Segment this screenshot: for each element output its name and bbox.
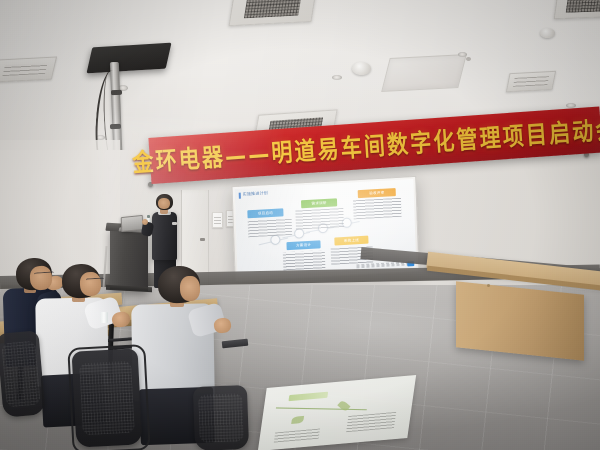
side-table-panel <box>456 281 584 360</box>
notice-text-lines <box>214 216 221 225</box>
poster-header-band <box>288 391 328 401</box>
ac-grille-icon <box>566 0 600 13</box>
floor-poster <box>258 375 416 450</box>
slide-box-label: 系统上线 <box>334 236 368 246</box>
vent-slats-icon <box>2 63 48 77</box>
wall-notice <box>212 212 223 228</box>
ceiling-vent <box>506 71 556 92</box>
chair-mesh <box>1 341 40 408</box>
slide-flow-node <box>294 228 304 239</box>
smoke-detector-icon <box>352 62 371 75</box>
podium <box>110 227 148 291</box>
cup-on-table <box>100 312 108 323</box>
downlight-icon <box>458 52 467 57</box>
poster-text-block <box>346 412 396 433</box>
slide-box-label: 验收评审 <box>358 188 396 198</box>
laptop-screen <box>121 215 144 232</box>
water-bottle-cap <box>147 215 150 218</box>
chair-mesh <box>199 393 244 443</box>
sprinkler-icon <box>466 57 471 61</box>
ceiling-vent <box>0 56 57 82</box>
slide-box-body <box>248 217 293 236</box>
poster-graphic-leaf <box>337 400 350 413</box>
slide-box: 验收评审 <box>353 188 402 219</box>
ceiling-ac-unit <box>554 0 600 19</box>
slide-box-body <box>283 250 326 270</box>
slide-box-label: 方案设计 <box>286 240 320 250</box>
attendee-face <box>180 276 201 302</box>
projector-mount-plate <box>86 43 171 74</box>
chair-frame <box>67 344 150 450</box>
door-handle[interactable] <box>200 238 205 241</box>
slide-flow-node <box>270 235 280 246</box>
slide-box: 项目启动 <box>247 208 292 237</box>
slide-box-body <box>353 197 402 219</box>
presenter-hand <box>142 219 148 225</box>
ceiling-ac-unit <box>229 0 318 26</box>
photo-scene: 金环电器——明道易车间数字化管理项目启动会 实施推进计划 项目启动 <box>0 0 600 450</box>
slide-box-label: 项目启动 <box>247 208 283 218</box>
slide-title-accent-bar <box>239 193 241 199</box>
presenter-torso <box>152 212 177 260</box>
projection-screen: 实施推进计划 项目启动 需求调研 方案设计 <box>231 176 419 282</box>
vent-slats-icon <box>513 76 549 87</box>
office-chair[interactable] <box>193 385 249 450</box>
projector-pole-ring <box>111 90 122 95</box>
projector-pole-ring <box>110 124 121 129</box>
presenter-face <box>158 198 170 209</box>
slide-title: 实施推进计划 <box>243 190 268 198</box>
ceiling-panel <box>381 54 467 92</box>
presentation-slide: 实施推进计划 项目启动 需求调研 方案设计 <box>235 179 417 277</box>
poster-graphic-stem <box>276 407 367 410</box>
slide-box: 方案设计 <box>282 240 325 270</box>
presenter-sleeve-stripe <box>172 222 177 225</box>
office-chair[interactable] <box>0 330 46 417</box>
downlight-icon <box>118 85 128 91</box>
downlight-icon <box>332 75 342 80</box>
smoke-detector-icon <box>540 28 555 38</box>
side-table-fitting <box>487 284 490 287</box>
attendee-face <box>79 271 101 296</box>
poster-graphic-leaf <box>291 416 304 424</box>
attendee-face <box>29 265 53 290</box>
slide-box: 需求调研 <box>295 198 344 229</box>
poster-text-block <box>274 428 320 442</box>
ac-grille-icon <box>244 0 303 18</box>
slide-box-label: 需求调研 <box>301 198 337 208</box>
slide-box-body <box>295 207 344 229</box>
